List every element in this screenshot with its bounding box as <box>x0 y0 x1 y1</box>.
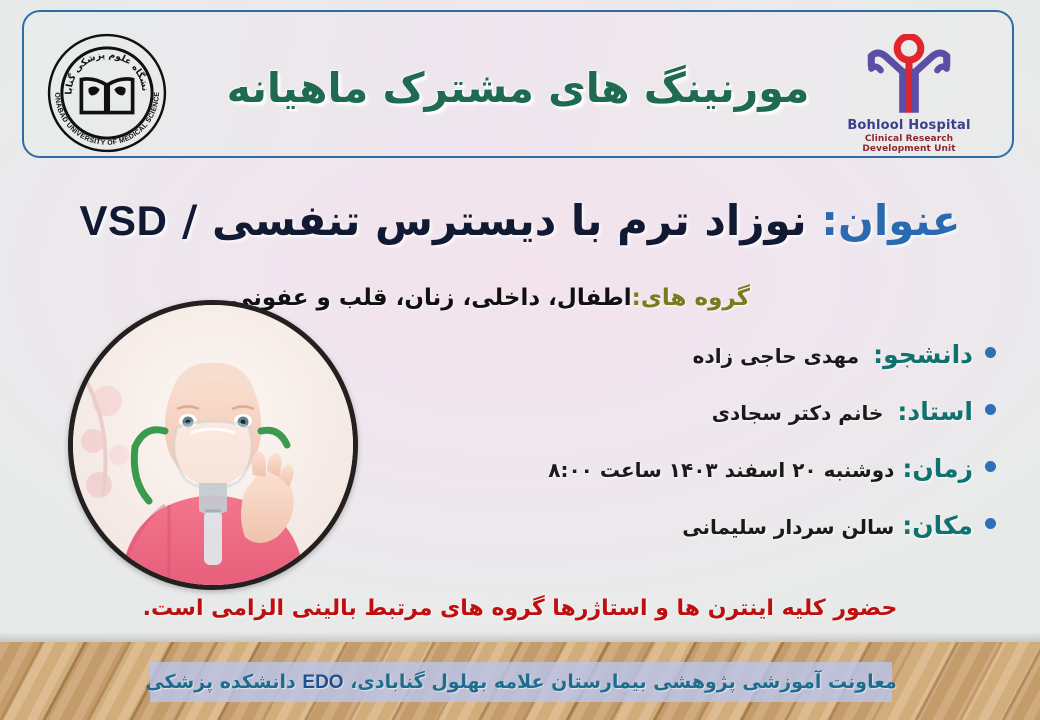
groups-value: اطفال، داخلی، زنان، قلب و عفونی <box>230 285 632 311</box>
list-item: دانشجو: مهدی حاجی زاده <box>436 340 996 369</box>
bullet-icon <box>985 404 996 415</box>
groups-line: گروه های:اطفال، داخلی، زنان، قلب و عفونی <box>0 285 980 311</box>
poster-canvas: دانشگاه علوم پزشکی گناباد GONABAD UNIVER… <box>0 0 1040 720</box>
session-title-acronym: VSD <box>80 197 168 244</box>
footer-edo-label: EDO <box>302 672 343 693</box>
time-value: دوشنبه ۲۰ اسفند ۱۴۰۳ ساعت ۸:۰۰ <box>548 458 894 482</box>
floor-shadow <box>0 632 1040 642</box>
bohlool-hospital-unit: Clinical Research Development Unit <box>834 134 984 154</box>
baby-photo-illustration <box>73 305 353 585</box>
bohlool-hospital-logo: Bohlool Hospital Clinical Research Devel… <box>834 34 984 154</box>
footer-text-after: دانشکده پزشکی <box>145 671 296 693</box>
session-title-label: عنوان: <box>821 196 960 245</box>
footer-text: معاونت آموزشی پژوهشی بیمارستان علامه بهل… <box>145 671 896 694</box>
bohlool-hospital-name: Bohlool Hospital <box>834 118 984 133</box>
bohlool-hospital-logo-mark <box>854 34 964 116</box>
professor-value: خانم دکتر سجادی <box>712 401 884 425</box>
baby-with-nebulizer-mask-photo <box>68 300 358 590</box>
professor-label: استاد: <box>897 397 973 426</box>
bullet-icon <box>985 518 996 529</box>
bullet-icon <box>985 347 996 358</box>
list-item: زمان: دوشنبه ۲۰ اسفند ۱۴۰۳ ساعت ۸:۰۰ <box>436 454 996 483</box>
location-label: مکان: <box>902 511 973 540</box>
list-item: استاد: خانم دکتر سجادی <box>436 397 996 426</box>
attendance-notice: حضور کلیه اینترن ها و استاژرها گروه های … <box>0 596 1040 621</box>
session-title: عنوان: نوزاد ترم با دیسترس تنفسی / VSD <box>0 196 1040 245</box>
footer-text-before: معاونت آموزشی پژوهشی بیمارستان علامه بهل… <box>350 671 897 693</box>
footer-band: معاونت آموزشی پژوهشی بیمارستان علامه بهل… <box>150 662 892 702</box>
list-item: مکان: سالن سردار سلیمانی <box>436 511 996 540</box>
student-value: مهدی حاجی زاده <box>693 344 859 368</box>
header-box: دانشگاه علوم پزشکی گناباد GONABAD UNIVER… <box>22 10 1014 158</box>
groups-label: گروه های: <box>632 285 750 311</box>
session-details-list: دانشجو: مهدی حاجی زاده استاد: خانم دکتر … <box>436 340 996 568</box>
bullet-icon <box>985 461 996 472</box>
student-label: دانشجو: <box>873 340 973 369</box>
location-value: سالن سردار سلیمانی <box>682 515 894 539</box>
time-label: زمان: <box>902 454 973 483</box>
session-title-text: نوزاد ترم با دیسترس تنفسی / <box>182 196 807 245</box>
